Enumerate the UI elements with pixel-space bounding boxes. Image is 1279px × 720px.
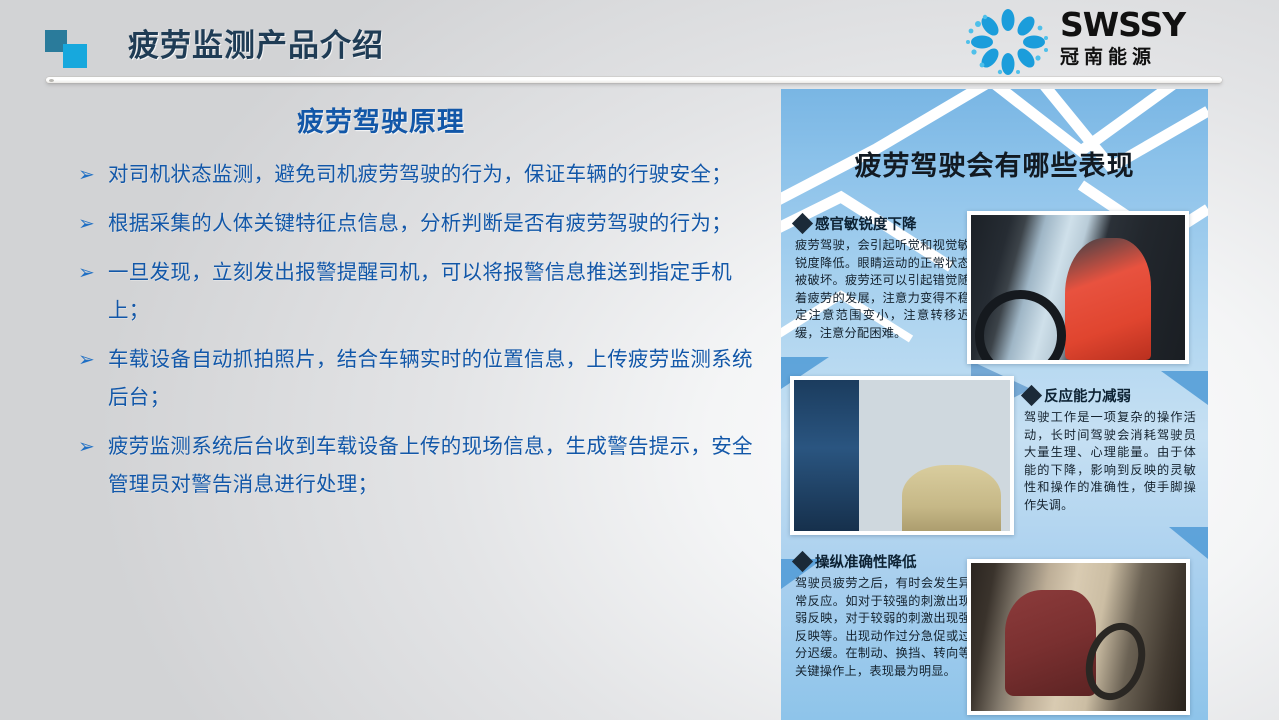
arrow-bullet-icon: ➢: [78, 204, 108, 242]
list-item-text: 疲劳监测系统后台收到车载设备上传的现场信息，生成警告提示，安全管理员对警告消息进…: [108, 427, 768, 503]
arrow-bullet-icon: ➢: [78, 427, 108, 465]
slide: 疲劳监测产品介绍: [0, 0, 1279, 720]
water-droplet-burst-logo-icon: [960, 8, 1056, 76]
section-title: 疲劳驾驶原理: [0, 100, 762, 139]
slide-header: 疲劳监测产品介绍: [0, 0, 1279, 88]
symptom-body-3: 驾驶员疲劳之后，有时会发生异常反应。如对于较强的刺激出现弱反映，对于较弱的刺激出…: [795, 575, 971, 681]
symptom-title-1: 感官敏锐度下降: [795, 213, 970, 234]
company-logo: SWSSY 冠南能源: [960, 6, 1220, 78]
list-item: ➢ 根据采集的人体关键特征点信息，分析判断是否有疲劳驾驶的行为；: [78, 204, 768, 242]
fatigue-symptoms-infographic: 疲劳驾驶会有哪些表现 感官敏锐度下降 疲劳驾驶，会引起听觉和视觉敏锐度降低。眼睛…: [781, 89, 1208, 720]
diamond-bullet-icon: [792, 551, 813, 572]
list-item-text: 对司机状态监测，避免司机疲劳驾驶的行为，保证车辆的行驶安全；: [108, 155, 768, 193]
symptom-title-text: 操纵准确性降低: [815, 551, 917, 572]
symptom-title-3: 操纵准确性降低: [795, 551, 971, 572]
arrow-bullet-icon: ➢: [78, 253, 108, 291]
logo-english-name: SWSSY: [1060, 8, 1185, 42]
symptom-title-2: 反应能力减弱: [1024, 385, 1196, 406]
symptom-title-text: 感官敏锐度下降: [815, 213, 917, 234]
symptom-section-2: 反应能力减弱 驾驶工作是一项复杂的操作活动，长时间驾驶会消耗驾驶员大量生理、心理…: [1024, 385, 1196, 515]
symptom-title-text: 反应能力减弱: [1044, 385, 1131, 406]
diamond-bullet-icon: [1021, 385, 1042, 406]
page-title: 疲劳监测产品介绍: [128, 20, 384, 65]
bullet-list: ➢ 对司机状态监测，避免司机疲劳驾驶的行为，保证车辆的行驶安全； ➢ 根据采集的…: [78, 155, 768, 514]
symptom-section-1: 感官敏锐度下降 疲劳驾驶，会引起听觉和视觉敏锐度降低。眼睛运动的正常状态被破坏。…: [795, 213, 970, 343]
infographic-heading: 疲劳驾驶会有哪些表现: [781, 144, 1208, 183]
tired-woman-driving-photo: [967, 211, 1189, 364]
list-item-text: 根据采集的人体关键特征点信息，分析判断是否有疲劳驾驶的行为；: [108, 204, 768, 242]
list-item-text: 一旦发现，立刻发出报警提醒司机，可以将报警信息推送到指定手机上；: [108, 253, 768, 329]
exhausted-truck-driver-photo: [790, 376, 1014, 535]
symptom-section-3: 操纵准确性降低 驾驶员疲劳之后，有时会发生异常反应。如对于较强的刺激出现弱反映，…: [795, 551, 971, 681]
list-item: ➢ 疲劳监测系统后台收到车载设备上传的现场信息，生成警告提示，安全管理员对警告消…: [78, 427, 768, 503]
driver-slumped-on-wheel-photo: [967, 559, 1190, 715]
logo-chinese-name: 冠南能源: [1060, 44, 1185, 70]
symptom-body-2: 驾驶工作是一项复杂的操作活动，长时间驾驶会消耗驾驶员大量生理、心理能量。由于体能…: [1024, 409, 1196, 515]
symptom-body-1: 疲劳驾驶，会引起听觉和视觉敏锐度降低。眼睛运动的正常状态被破坏。疲劳还可以引起错…: [795, 237, 970, 343]
list-item: ➢ 一旦发现，立刻发出报警提醒司机，可以将报警信息推送到指定手机上；: [78, 253, 768, 329]
list-item-text: 车载设备自动抓拍照片，结合车辆实时的位置信息，上传疲劳监测系统后台；: [108, 340, 768, 416]
arrow-bullet-icon: ➢: [78, 340, 108, 378]
diamond-bullet-icon: [792, 213, 813, 234]
header-square-light-icon: [63, 44, 87, 68]
list-item: ➢ 对司机状态监测，避免司机疲劳驾驶的行为，保证车辆的行驶安全；: [78, 155, 768, 193]
list-item: ➢ 车载设备自动抓拍照片，结合车辆实时的位置信息，上传疲劳监测系统后台；: [78, 340, 768, 416]
logo-text: SWSSY 冠南能源: [1060, 8, 1185, 70]
arrow-bullet-icon: ➢: [78, 155, 108, 193]
